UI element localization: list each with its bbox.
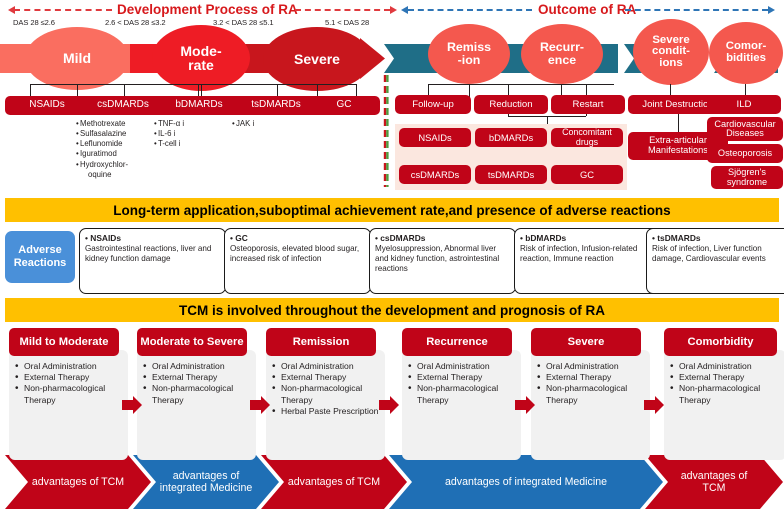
tcm-body-4: Oral Administration External Therapy Non… <box>531 350 650 460</box>
csdmards-item-1: Sulfasalazine <box>80 129 126 138</box>
stage-severe-label: Severe <box>294 52 340 66</box>
banner-tcm-label: TCM is involved throughout the developme… <box>179 303 605 318</box>
tcm-item: External Therapy <box>408 372 518 383</box>
bullet-dots-csdmards: ••••• <box>76 119 79 170</box>
tcm-item: Oral Administration <box>670 361 783 372</box>
connector-nsaids <box>30 84 31 96</box>
comorbidity-pill-osteoporosis[interactable]: Osteoporosis <box>707 144 783 163</box>
tcm-header-3-label: Recurrence <box>426 336 488 348</box>
treatment-pill-csdmards-label: csDMARDs <box>97 100 149 110</box>
tcm-header-3[interactable]: Recurrence <box>402 328 512 356</box>
drug-pill-concomitant[interactable]: Concomitant drugs <box>551 128 623 147</box>
das-label-1: 2.6 < DAS 28 ≤3.2 <box>105 18 166 27</box>
tcm-item: Oral Administration <box>15 361 125 372</box>
tcm-item: Oral Administration <box>537 361 647 372</box>
das-label-3: 5.1 < DAS 28 <box>325 18 369 27</box>
comorbidity-pill-sjogrens-label: Sjögren's syndrome <box>711 168 783 187</box>
adverse-box-bdmards: • bDMARDs Risk of infection, Infusion-re… <box>514 228 661 294</box>
tcm-item: Non-pharmacological Therapy <box>143 383 253 405</box>
drug-pill-bdmards-label: bDMARDs <box>489 133 533 143</box>
tcm-item: Oral Administration <box>143 361 253 372</box>
comorbidity-pill-cardiovascular-label: Cardiovascular Diseases <box>707 120 783 139</box>
tcm-header-5[interactable]: Comorbidity <box>664 328 777 356</box>
adverse-reactions-label: Adverse Reactions <box>14 244 67 270</box>
section-divider <box>383 75 389 187</box>
outcome-right-arrow-head-icon <box>768 6 775 14</box>
drug-pill-bdmards[interactable]: bDMARDs <box>475 128 547 147</box>
tcm-body-5: Oral Administration External Therapy Non… <box>664 350 784 460</box>
comorbidity-pill-osteoporosis-label: Osteoporosis <box>718 149 772 158</box>
stage-comorbidities-label: Comor- bidities <box>726 41 767 64</box>
stage-severe[interactable]: Severe <box>263 27 371 91</box>
connector-gc <box>356 84 357 96</box>
advantage-chevron-3-label: advantages of integrated Medicine <box>445 476 607 488</box>
bdmards-item-1: IL-6 i <box>158 129 175 138</box>
tsdmards-bullet-list: JAK i <box>236 119 254 129</box>
stage-recurrence-label: Recurr- ence <box>540 41 584 66</box>
adverse-box-tsdmards: • tsDMARDs Risk of infection, Liver func… <box>646 228 784 294</box>
outcome-pill-reduction-label: Reduction <box>489 100 532 110</box>
adverse-box-nsaids-text: Gastrointestinal reactions, liver and ki… <box>85 244 211 263</box>
tcm-header-1-label: Moderate to Severe <box>140 336 243 348</box>
stage-remission-label: Remiss -ion <box>447 41 491 66</box>
tcm-body-3: Oral Administration External Therapy Non… <box>402 350 521 460</box>
connector-remission-bar <box>428 84 554 85</box>
adverse-box-bdmards-text: Risk of infection, Infusion-related reac… <box>520 244 637 263</box>
outcome-pill-ild-label: ILD <box>737 100 752 110</box>
header-dash-right <box>295 9 390 11</box>
tcm-item: External Therapy <box>272 372 382 383</box>
comorbidity-pill-sjogrens[interactable]: Sjögren's syndrome <box>711 166 783 189</box>
tcm-arrow-3-icon <box>515 396 535 414</box>
tcm-body-1: Oral Administration External Therapy Non… <box>137 350 256 460</box>
adverse-box-csdmards: • csDMARDs Myelosuppression, Abnormal li… <box>369 228 516 294</box>
tcm-header-0-label: Mild to Moderate <box>20 336 109 348</box>
drug-pill-concomitant-label: Concomitant drugs <box>551 128 623 146</box>
tcm-item: External Therapy <box>537 372 647 383</box>
advantage-chevron-2[interactable]: advantages of TCM <box>284 455 384 509</box>
adverse-box-gc-text: Osteoporosis, elevated blood sugar, incr… <box>230 244 359 263</box>
tcm-item: Non-pharmacological Therapy <box>272 383 382 405</box>
tcm-header-0[interactable]: Mild to Moderate <box>9 328 119 356</box>
adverse-box-tsdmards-text: Risk of infection, Liver function damage… <box>652 244 766 263</box>
adverse-box-gc-title: GC <box>235 233 248 243</box>
comorbidity-pill-cardiovascular[interactable]: Cardiovascular Diseases <box>707 117 783 141</box>
advantage-chevron-3[interactable]: advantages of integrated Medicine <box>412 455 640 509</box>
drug-pill-gc-label: GC <box>580 170 594 180</box>
bdmards-bullet-list: TNF-α i IL-6 i T-cell i <box>158 119 184 149</box>
csdmards-item-2: Leflunomide <box>80 139 122 148</box>
right-arrow-head-icon <box>390 6 397 14</box>
connector-bdmards <box>198 84 199 96</box>
tcm-item: External Therapy <box>670 372 783 383</box>
csdmards-item-0: Methotrexate <box>80 119 126 128</box>
adverse-box-csdmards-title: csDMARDs <box>380 233 425 243</box>
drug-pill-csdmards-label: csDMARDs <box>411 170 459 180</box>
adverse-reactions-label-box: Adverse Reactions <box>5 231 75 283</box>
drug-pill-tsdmards[interactable]: tsDMARDs <box>475 165 547 184</box>
outcome-title: Outcome of RA <box>538 2 636 17</box>
tcm-item: Non-pharmacological Therapy <box>537 383 647 405</box>
outcome-pill-followup-label: Follow-up <box>412 100 454 110</box>
drug-pill-tsdmards-label: tsDMARDs <box>488 170 534 180</box>
csdmards-item-3: Iguratimod <box>80 149 117 158</box>
advantage-chevron-1[interactable]: advantages of integrated Medicine <box>156 455 256 509</box>
adverse-box-nsaids-title: NSAIDs <box>90 233 121 243</box>
advantage-chevron-0[interactable]: advantages of TCM <box>28 455 128 509</box>
outcome-pill-joint-destruction-label: Joint Destruction <box>642 100 713 110</box>
banner-tcm: TCM is involved throughout the developme… <box>5 298 779 322</box>
connector-tsdmards <box>277 84 278 96</box>
adverse-box-nsaids: • NSAIDs Gastrointestinal reactions, liv… <box>79 228 226 294</box>
tcm-header-4-label: Severe <box>568 336 605 348</box>
outcome-pill-followup[interactable]: Follow-up <box>395 95 471 114</box>
stage-moderate[interactable]: Mode- rate <box>152 25 250 91</box>
tcm-item: Non-pharmacological Therapy <box>15 383 125 405</box>
stage-remission[interactable]: Remiss -ion <box>428 24 510 84</box>
tcm-header-5-label: Comorbidity <box>688 336 754 348</box>
connector-severe-bar <box>277 84 357 85</box>
csdmards-bullet-list: Methotrexate Sulfasalazine Leflunomide I… <box>80 119 128 180</box>
tcm-item: Oral Administration <box>272 361 382 372</box>
stage-mild[interactable]: Mild <box>25 27 129 90</box>
connector-severecond-stem <box>670 84 671 95</box>
connector-extra-articular <box>678 114 679 132</box>
treatment-pill-nsaids-label: NSAIDs <box>29 100 65 110</box>
header-dash-left <box>14 9 112 11</box>
stage-moderate-label: Mode- rate <box>180 44 221 73</box>
stage-severe-conditions-label: Severe condit- ions <box>652 35 690 70</box>
tcm-item: Herbal Paste Prescription <box>272 406 382 417</box>
tsdmards-item-0: JAK i <box>236 119 254 128</box>
tcm-arrow-4-icon <box>644 396 664 414</box>
connector-reduction <box>508 84 509 95</box>
tcm-header-1[interactable]: Moderate to Severe <box>137 328 247 356</box>
stage-recurrence[interactable]: Recurr- ence <box>521 24 603 84</box>
csdmards-item-5: oquine <box>88 170 111 179</box>
tcm-body-2: Oral Administration External Therapy Non… <box>266 350 385 460</box>
csdmards-item-4: Hydroxychlor- <box>80 160 128 169</box>
connector-moderate-bar <box>124 84 277 85</box>
stage-severe-conditions[interactable]: Severe condit- ions <box>633 19 709 85</box>
drug-pill-nsaids-label: NSAIDs <box>418 133 451 143</box>
treatment-pill-nsaids[interactable]: NSAIDs <box>5 96 89 115</box>
advantage-chevron-2-label: advantages of TCM <box>288 476 380 488</box>
outcome-left-arrow-head-icon <box>401 6 408 14</box>
treatment-pill-gc[interactable]: GC <box>308 96 380 115</box>
treatment-pill-bdmards-label: bDMARDs <box>175 100 222 110</box>
banner-adverse-reactions-label: Long-term application,suboptimal achieve… <box>113 203 670 218</box>
tcm-header-2[interactable]: Remission <box>266 328 376 356</box>
tcm-body-0: Oral Administration External Therapy Non… <box>9 350 128 460</box>
drug-pill-csdmards[interactable]: csDMARDs <box>399 165 471 184</box>
adverse-box-tsdmards-title: tsDMARDs <box>657 233 700 243</box>
outcome-pill-restart[interactable]: Restart <box>551 95 625 114</box>
outcome-dash-right <box>625 9 768 11</box>
bullet-dots-tsdmards: • <box>232 119 235 129</box>
advantage-chevron-0-label: advantages of TCM <box>32 476 124 488</box>
treatment-pill-tsdmards[interactable]: tsDMARDs <box>232 96 320 115</box>
bdmards-item-0: TNF-α i <box>158 119 184 128</box>
tcm-item: Oral Administration <box>408 361 518 372</box>
adverse-box-gc: • GC Osteoporosis, elevated blood sugar,… <box>224 228 371 294</box>
connector-mild-bar <box>30 84 124 85</box>
das-label-2: 3.2 < DAS 28 ≤5.1 <box>213 18 274 27</box>
tcm-header-4[interactable]: Severe <box>531 328 641 356</box>
diagram-root: Development Process of RA Outcome of RA … <box>0 0 784 510</box>
tcm-item: Non-pharmacological Therapy <box>670 383 783 405</box>
connector-csdmards <box>124 84 125 96</box>
connector-comorbidity-stem <box>745 84 746 95</box>
bullet-dots-bdmards: ••• <box>154 119 157 149</box>
outcome-pill-reduction[interactable]: Reduction <box>474 95 548 114</box>
adverse-box-csdmards-text: Myelosuppression, Abnormal liver and kid… <box>375 244 499 273</box>
tcm-item: External Therapy <box>143 372 253 383</box>
stage-comorbidities[interactable]: Comor- bidities <box>709 22 783 84</box>
development-process-title: Development Process of RA <box>117 2 298 17</box>
banner-adverse-reactions: Long-term application,suboptimal achieve… <box>5 198 779 222</box>
outcome-pill-restart-label: Restart <box>573 100 604 110</box>
tcm-arrow-0-icon <box>122 396 142 414</box>
advantage-chevron-1-label: advantages of integrated Medicine <box>156 470 256 495</box>
tcm-arrow-2-icon <box>379 396 399 414</box>
stage-mild-label: Mild <box>63 51 91 65</box>
drug-pill-gc[interactable]: GC <box>551 165 623 184</box>
adverse-box-bdmards-title: bDMARDs <box>525 233 566 243</box>
tcm-item: Non-pharmacological Therapy <box>408 383 518 405</box>
tcm-header-2-label: Remission <box>293 336 350 348</box>
connector-followup <box>428 84 429 95</box>
treatment-pill-gc-label: GC <box>337 100 352 110</box>
treatment-pill-tsdmards-label: tsDMARDs <box>251 100 300 110</box>
advantage-chevron-4[interactable]: advantages of TCM <box>668 455 760 509</box>
das-label-0: DAS 28 ≤2.6 <box>13 18 55 27</box>
tcm-item: External Therapy <box>15 372 125 383</box>
connector-restart <box>586 84 587 95</box>
connector-recurrence-bar <box>554 84 614 85</box>
outcome-pill-ild[interactable]: ILD <box>707 95 781 114</box>
advantage-chevron-4-label: advantages of TCM <box>668 470 760 495</box>
treatment-pill-bdmards[interactable]: bDMARDs <box>155 96 243 115</box>
tcm-arrow-1-icon <box>250 396 270 414</box>
connector-drug-grid-stem <box>547 116 548 124</box>
outcome-dash-left <box>408 9 532 11</box>
bdmards-item-2: T-cell i <box>158 139 181 148</box>
drug-pill-nsaids[interactable]: NSAIDs <box>399 128 471 147</box>
